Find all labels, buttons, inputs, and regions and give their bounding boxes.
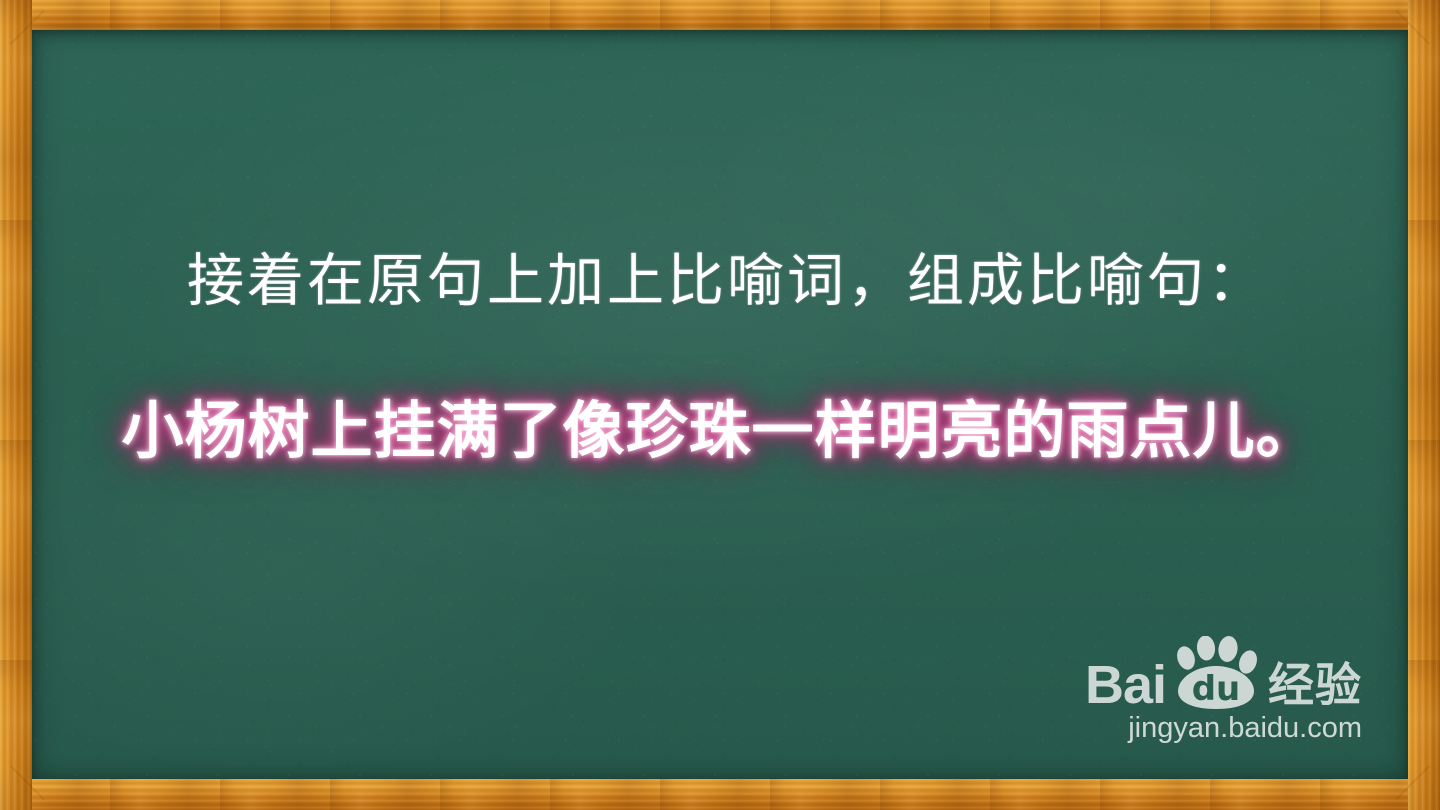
watermark-url: jingyan.baidu.com: [1085, 714, 1362, 743]
paw-du-text: du: [1192, 669, 1241, 709]
answer-line: 小杨树上挂满了像珍珠一样明亮的雨点儿。: [32, 400, 1408, 465]
watermark-logo-row: Bai du 经验: [1085, 648, 1362, 710]
baidu-paw-icon: du: [1166, 636, 1262, 710]
slide-root: 接着在原句上加上比喻词，组成比喻句： 小杨树上挂满了像珍珠一样明亮的雨点儿。 B…: [0, 0, 1440, 810]
jingyan-cn-wordmark: 经验: [1268, 662, 1362, 708]
baidu-wordmark-latin: Bai: [1085, 658, 1166, 712]
prompt-line: 接着在原句上加上比喻词，组成比喻句：: [32, 252, 1408, 312]
frame-right-stile: [1408, 0, 1440, 810]
frame-top-rail: [0, 0, 1440, 30]
chalkboard-text-block: 接着在原句上加上比喻词，组成比喻句： 小杨树上挂满了像珍珠一样明亮的雨点儿。: [32, 252, 1408, 465]
baidu-jingyan-watermark: Bai du 经验 jingyan.baidu: [1085, 648, 1362, 743]
chalkboard-surface: 接着在原句上加上比喻词，组成比喻句： 小杨树上挂满了像珍珠一样明亮的雨点儿。 B…: [32, 30, 1408, 779]
frame-left-stile: [0, 0, 32, 810]
frame-bottom-rail: [0, 779, 1440, 810]
